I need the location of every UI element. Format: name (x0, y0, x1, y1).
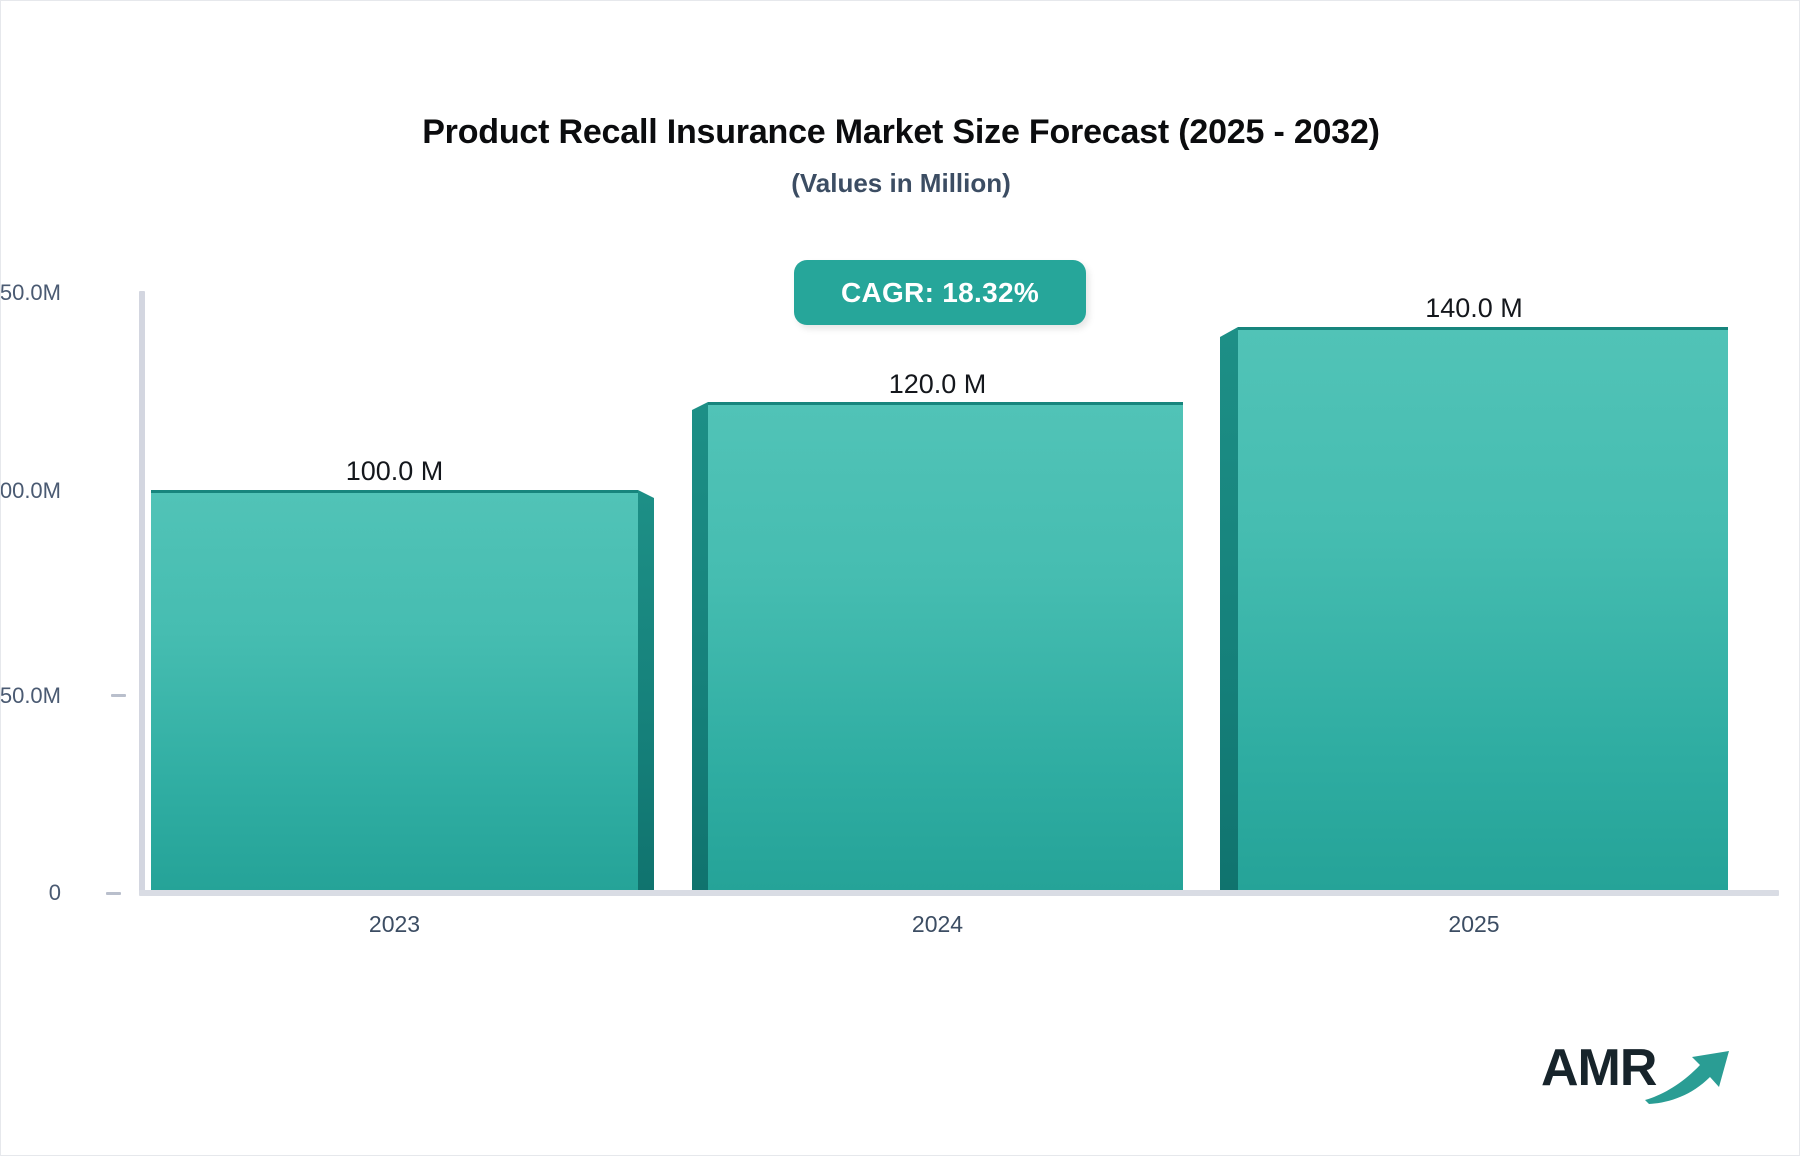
bar-2023[interactable] (151, 490, 638, 890)
y-axis-tick-label-100: 100.0M (0, 478, 61, 504)
chart-canvas: Product Recall Insurance Market Size For… (0, 0, 1800, 1156)
bar-2024-side-face (692, 410, 708, 890)
bar-2024[interactable] (708, 402, 1183, 890)
x-axis-label-2024: 2024 (692, 911, 1183, 938)
amr-logo-text: AMR (1541, 1039, 1656, 1097)
amr-logo: AMR (1541, 1037, 1731, 1107)
bar-2023-top-bevel (638, 490, 654, 498)
plot-area: 150.0M 100.0M 50.0M 0 100.0 M 2023 120.0… (1, 1, 1800, 1156)
bar-value-label-2024: 120.0 M (692, 369, 1183, 400)
y-axis-tick-mark-0 (106, 892, 121, 895)
bar-2025[interactable] (1238, 327, 1728, 890)
cagr-badge-label: CAGR: 18.32% (841, 277, 1039, 309)
growth-arrow-icon (1643, 1043, 1735, 1105)
x-axis-line (139, 890, 1779, 896)
bar-2025-side-face (1220, 337, 1238, 890)
y-axis-tick-label-50: 50.0M (0, 683, 61, 709)
x-axis-label-2025: 2025 (1220, 911, 1728, 938)
y-axis-tick-mark-50 (111, 694, 126, 697)
bar-2023-side-face (638, 498, 654, 890)
cagr-badge[interactable]: CAGR: 18.32% (794, 260, 1086, 325)
x-axis-label-2023: 2023 (151, 911, 638, 938)
bar-2024-top-bevel (692, 402, 708, 410)
y-axis-line (139, 291, 145, 893)
bar-value-label-2025: 140.0 M (1220, 293, 1728, 324)
y-axis-tick-label-0: 0 (0, 880, 61, 906)
bar-value-label-2023: 100.0 M (151, 456, 638, 487)
y-axis-tick-label-150: 150.0M (0, 280, 61, 306)
bar-2025-top-bevel (1220, 327, 1238, 337)
